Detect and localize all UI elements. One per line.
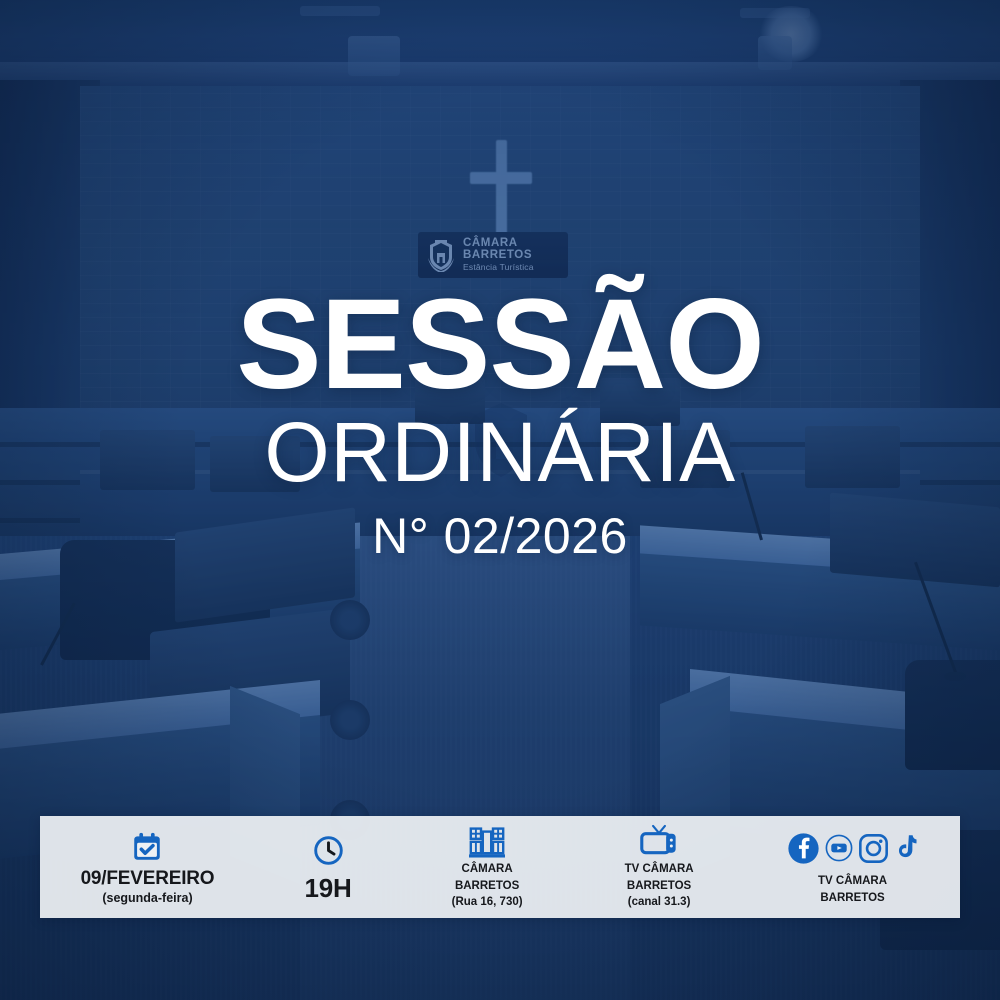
building-icon [469,824,505,860]
venue-line-2: BARRETOS [455,879,519,893]
venue-line-1: CÂMARA [462,862,513,876]
info-cell-date: 09/FEVEREIRO (segunda-feira) [40,816,255,918]
tv-line-1: TV CÂMARA [625,862,694,876]
social-icon-row [787,829,919,867]
youtube-icon[interactable] [825,834,853,862]
info-cell-time: 19H [255,816,401,918]
tv-channel: (canal 31.3) [628,895,691,909]
social-line-2: BARRETOS [820,891,884,905]
tiktok-icon[interactable] [894,834,919,862]
info-cell-tv: TV CÂMARA BARRETOS (canal 31.3) [573,816,745,918]
calendar-check-icon [130,828,164,864]
headline-session: SESSÃO [0,286,1000,404]
info-cell-venue: CÂMARA BARRETOS (Rua 16, 730) [401,816,573,918]
session-announcement-poster: CÂMARA BARRETOS Estância Turística [0,0,1000,1000]
time-value: 19H [304,875,351,902]
clock-icon [312,831,345,867]
tv-line-2: BARRETOS [627,879,691,893]
headline-ordinary: ORDINÁRIA [0,410,1000,496]
social-line-1: TV CÂMARA [818,874,887,888]
date-weekday: (segunda-feira) [102,891,192,906]
info-cell-social: TV CÂMARA BARRETOS [745,816,960,918]
headline-block: SESSÃO ORDINÁRIA N° 02/2026 [0,286,1000,565]
instagram-icon[interactable] [858,833,889,864]
facebook-icon[interactable] [787,832,820,865]
date-value: 09/FEVEREIRO [81,869,215,889]
venue-address: (Rua 16, 730) [452,895,523,909]
info-bar: 09/FEVEREIRO (segunda-feira) 19H [40,816,960,918]
headline-number: N° 02/2026 [0,507,1000,565]
television-icon [640,824,678,860]
